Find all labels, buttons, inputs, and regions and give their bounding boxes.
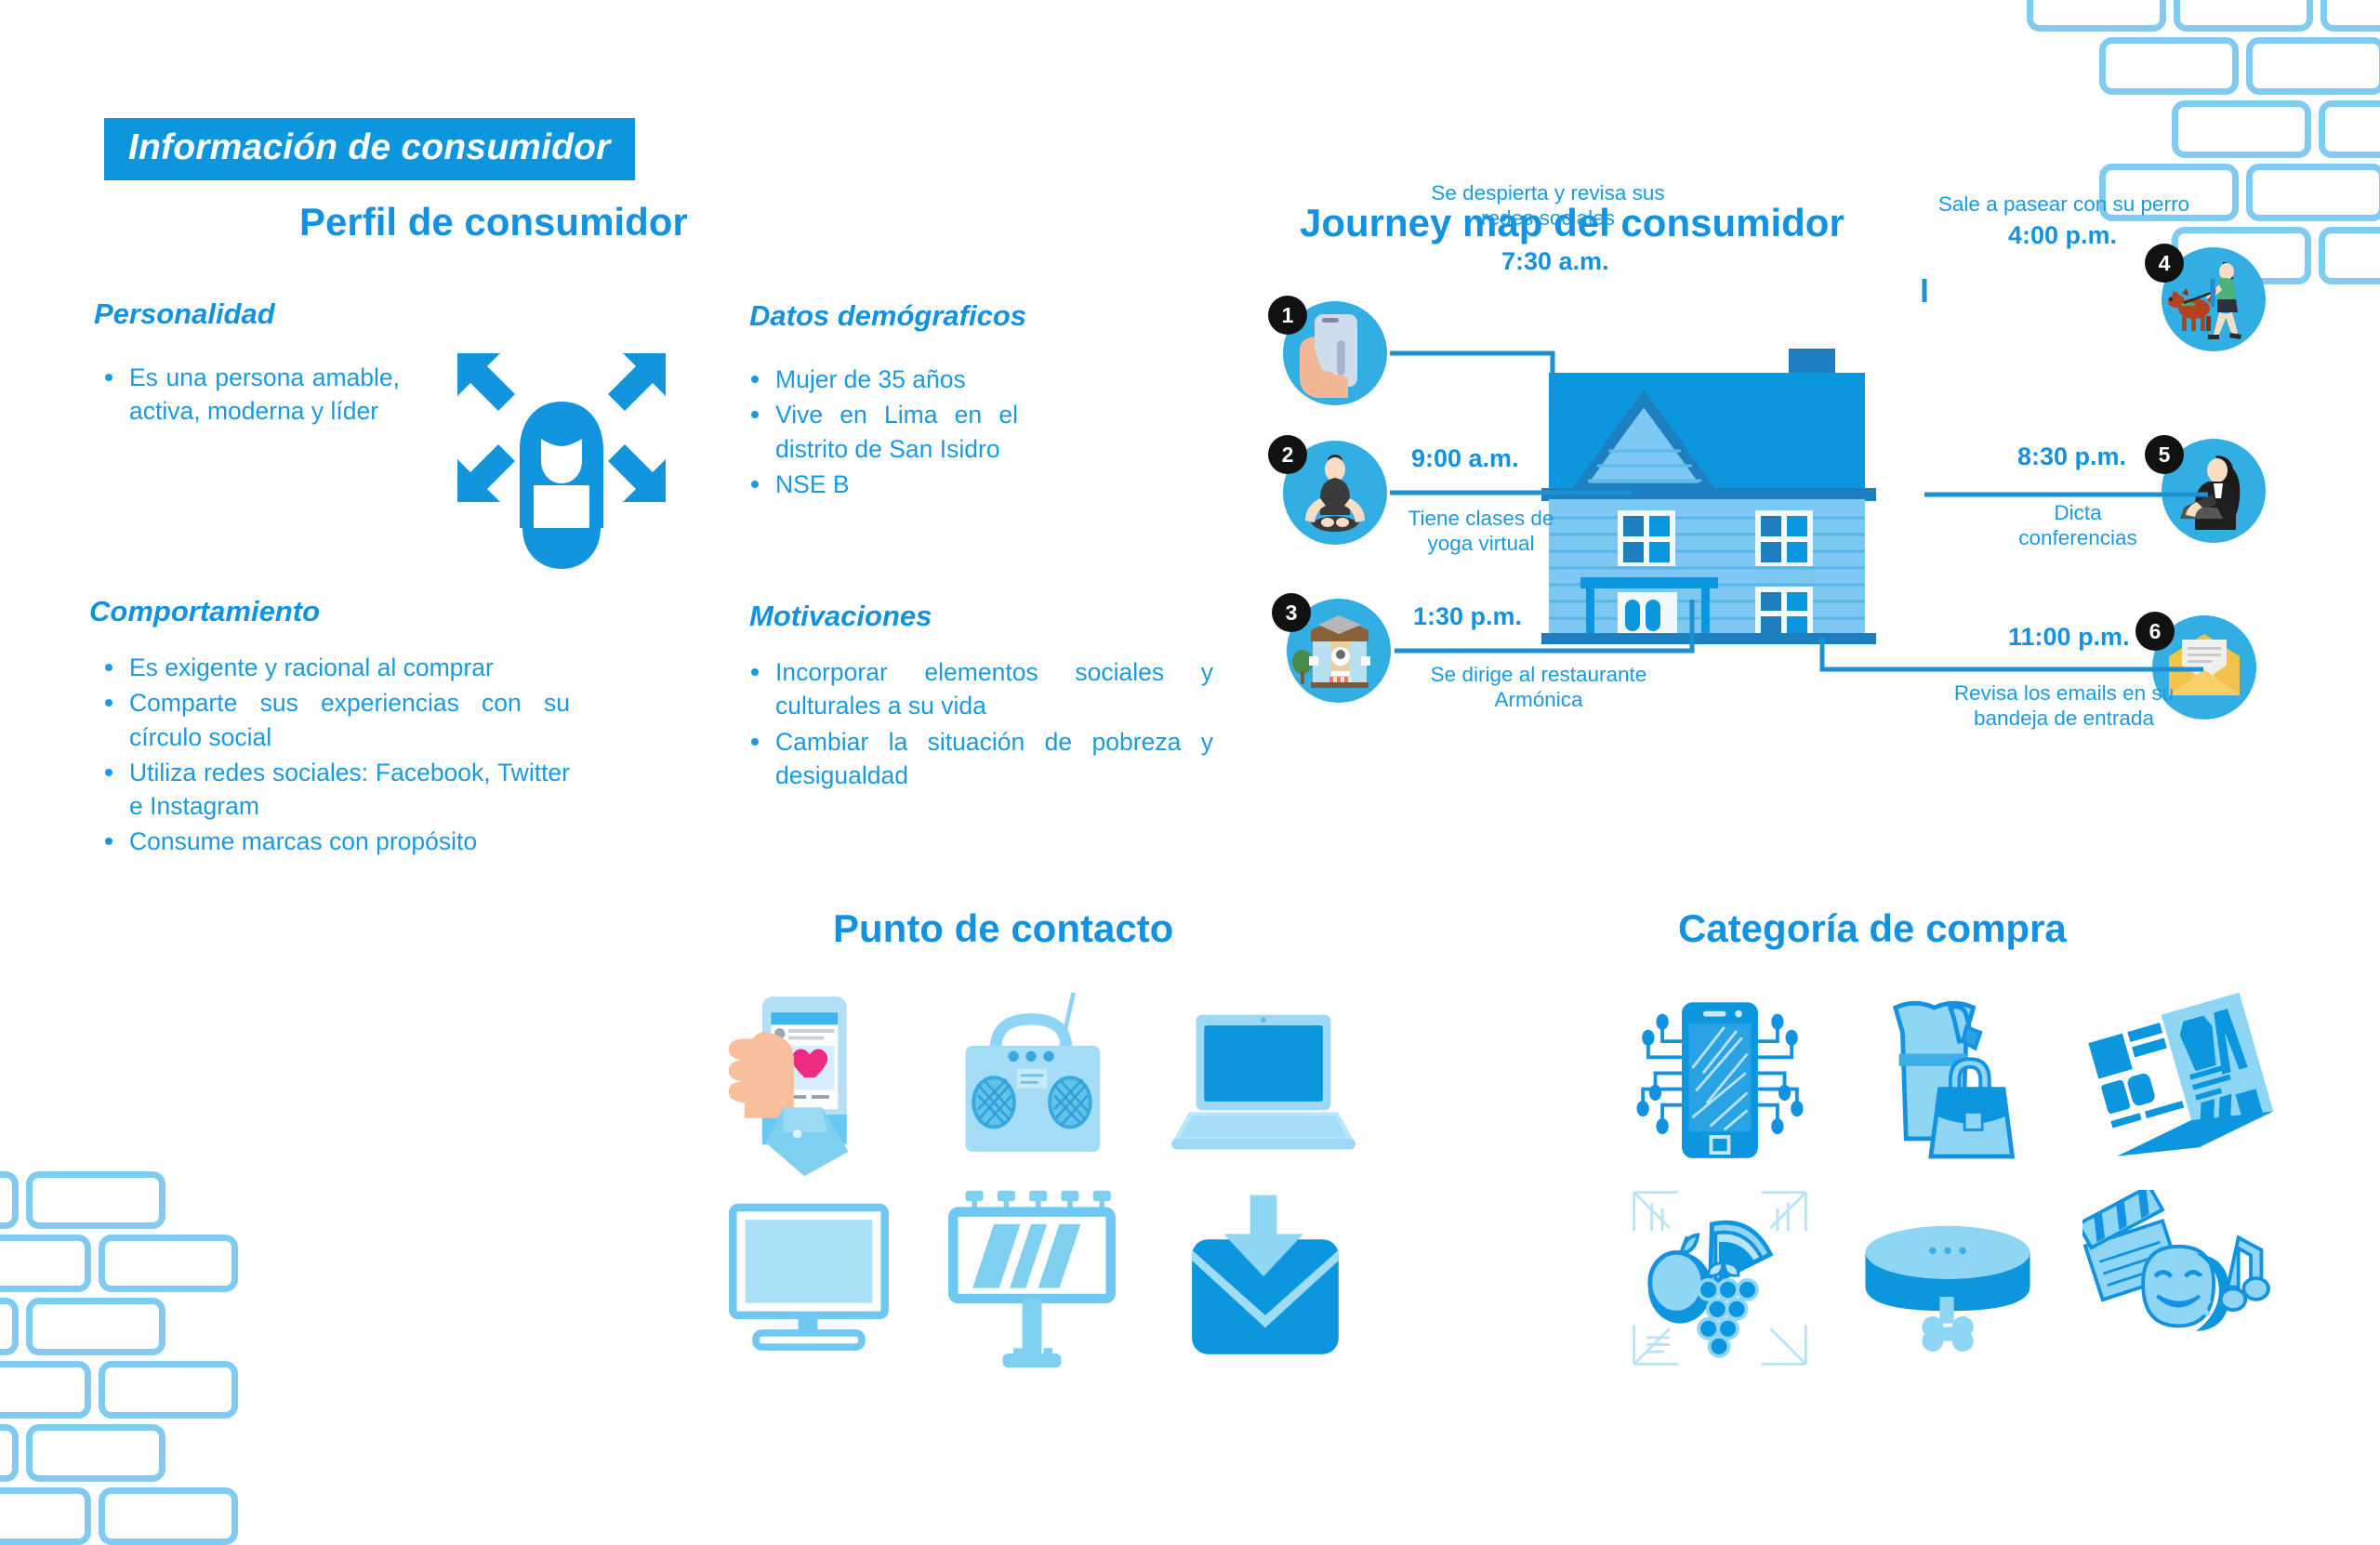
journey-step-4-time: 4:00 p.m. (2008, 221, 2117, 250)
subheading-motivaciones: Motivaciones (749, 600, 932, 633)
journey-step-4-label: Sale a pasear con su perro (1924, 191, 2203, 217)
journey-map: 1 Se despierta y revisa sus redes social… (1274, 279, 2324, 855)
list-item: Vive en Lima en el distrito de San Isidr… (744, 398, 1018, 466)
purchase-category-icon-grid (1608, 981, 2296, 1376)
list-item: Es exigente y racional al comprar (98, 651, 570, 684)
subheading-datos-demograficos: Datos demógraficos (749, 299, 1026, 333)
journey-connectors (1274, 279, 2324, 855)
magazine-icon (2082, 993, 2278, 1169)
woman-target-icon (450, 346, 673, 578)
billboard-icon (939, 1183, 1125, 1374)
entertainment-icon (2082, 1190, 2278, 1367)
journey-step-1-badge: 1 (1268, 296, 1307, 335)
list-item: Incorporar elementos sociales y cultural… (744, 655, 1213, 723)
section-heading-purchase-categories: Categoría de compra (1678, 906, 2067, 951)
laptop-icon (1171, 1006, 1357, 1156)
brick-pattern-bottom-left (0, 1171, 232, 1525)
subheading-comportamiento: Comportamiento (89, 595, 320, 628)
journey-step-3-time: 1:30 p.m. (1413, 602, 1522, 631)
section-heading-profile: Perfil de consumidor (299, 200, 688, 244)
smartphone-tech-icon (1627, 988, 1813, 1174)
hand-smartphone-social-icon (725, 985, 892, 1176)
journey-step-4-badge: 4 (2145, 244, 2184, 283)
list-motivaciones: Incorporar elementos sociales y cultural… (744, 655, 1213, 794)
email-inbox-icon (1176, 1190, 1353, 1367)
tv-monitor-icon (721, 1198, 897, 1358)
list-datos-demograficos: Mujer de 35 años Vive en Lima en el dist… (744, 363, 1018, 503)
dress-handbag-icon (1855, 988, 2041, 1174)
section-heading-touchpoints: Punto de contacto (833, 906, 1173, 951)
page-title-banner: Información de consumidor (104, 118, 635, 180)
journey-step-1-time: 7:30 a.m. (1501, 247, 1609, 276)
journey-step-5-badge: 5 (2145, 435, 2184, 474)
journey-step-5-time: 8:30 p.m. (2017, 442, 2126, 471)
journey-step-3-badge: 3 (1272, 593, 1311, 632)
subheading-personalidad: Personalidad (94, 297, 275, 331)
journey-step-2-label: Tiene clases de yoga virtual (1393, 506, 1569, 556)
pet-collar-icon (1855, 1203, 2041, 1354)
list-item: Consume marcas con propósito (98, 825, 570, 858)
journey-step-2-badge: 2 (1268, 435, 1307, 474)
journey-step-5-label: Dicta conferencias (1999, 500, 2157, 550)
list-personalidad: Es una persona amable, activa, moderna y… (98, 361, 400, 430)
list-item: Utiliza redes sociales: Facebook, Twitte… (98, 756, 570, 824)
fruits-icon (1627, 1185, 1813, 1371)
touchpoint-icon-grid (702, 981, 1381, 1376)
list-item: Es una persona amable, activa, moderna y… (98, 361, 400, 429)
list-item: Cambiar la situación de pobreza y desigu… (744, 725, 1213, 793)
journey-step-1-label: Se despierta y revisa sus redes sociales (1408, 180, 1687, 231)
journey-step-3-label: Se dirige al restaurante Armónica (1395, 662, 1683, 712)
journey-step-2-time: 9:00 a.m. (1411, 444, 1519, 473)
journey-step-6-badge: 6 (2135, 612, 2175, 651)
journey-step-6-label: Revisa los emails en su bandeja de entra… (1924, 680, 2203, 731)
list-item: Comparte sus experiencias con su círculo… (98, 686, 570, 754)
page-title: Información de consumidor (128, 127, 611, 168)
journey-step-6-time: 11:00 p.m. (2008, 623, 2130, 652)
list-item: NSE B (744, 468, 1018, 501)
list-comportamiento: Es exigente y racional al comprar Compar… (98, 651, 570, 861)
radio-boombox-icon (939, 985, 1125, 1176)
list-item: Mujer de 35 años (744, 363, 1018, 396)
